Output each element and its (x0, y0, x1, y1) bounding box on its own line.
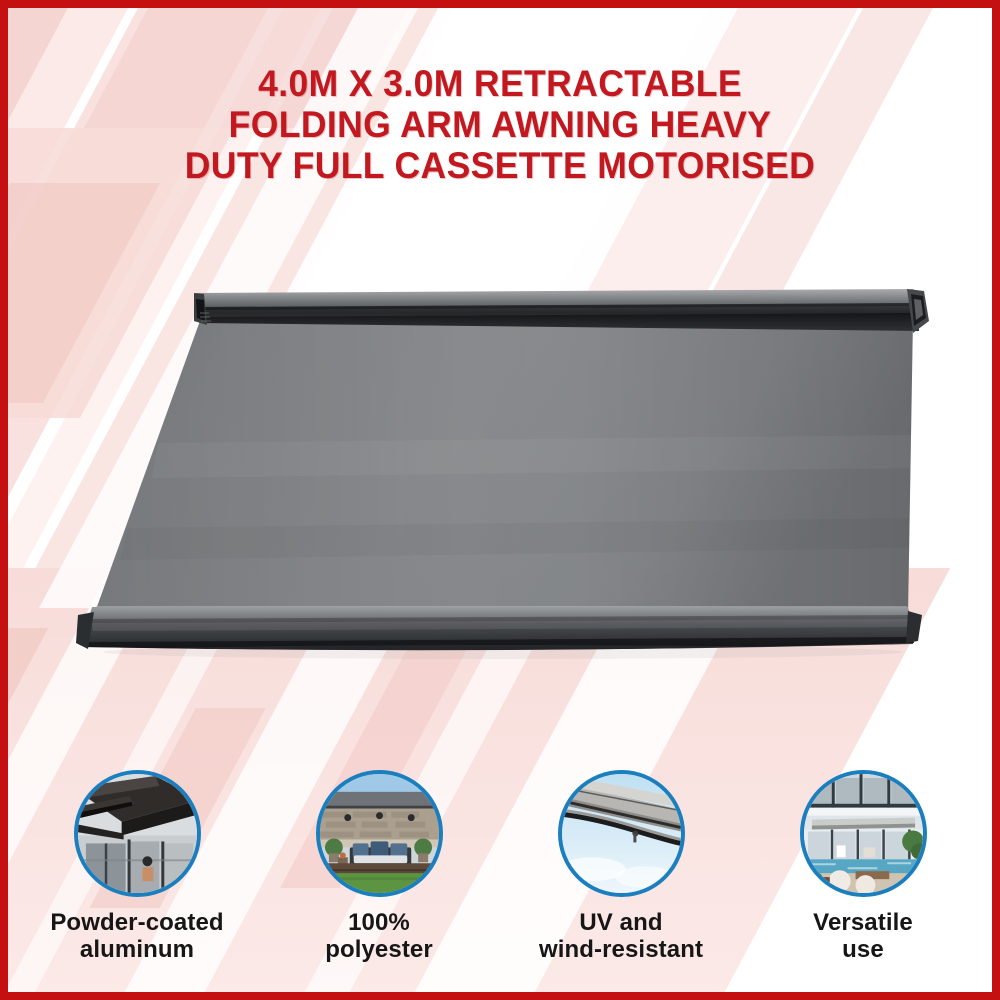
feature-item: Versatile use (746, 770, 981, 963)
feature-label: UV and wind-resistant (539, 909, 703, 963)
feature-item: Powder-coated aluminum (20, 770, 255, 963)
feature-label: Powder-coated aluminum (50, 909, 223, 963)
feature-label-line-2: polyester (325, 936, 433, 963)
feature-label-line-2: use (842, 936, 884, 963)
feature-label-line-1: UV and (579, 909, 662, 936)
modern-house-pool-icon (800, 770, 927, 897)
feature-item: UV and wind-resistant (504, 770, 739, 963)
feature-label-line-1: Versatile (813, 909, 913, 936)
product-image (8, 263, 1000, 683)
title-line-1: 4.0M X 3.0M RETRACTABLE (28, 63, 973, 104)
feature-label: 100% polyester (325, 909, 433, 963)
patio-sofa-icon (316, 770, 443, 897)
feature-list: Powder-coated aluminum (16, 770, 984, 985)
awning-cassette-icon (74, 770, 201, 897)
feature-label-line-2: aluminum (80, 936, 194, 963)
title-line-3: DUTY FULL CASSETTE MOTORISED (28, 145, 973, 186)
title-line-2: FOLDING ARM AWNING HEAVY (28, 104, 973, 145)
product-marketing-image: 4.0M X 3.0M RETRACTABLE FOLDING ARM AWNI… (0, 0, 1000, 1000)
feature-label-line-1: Powder-coated (50, 909, 223, 936)
feature-label-line-2: wind-resistant (539, 936, 703, 963)
page-title: 4.0M X 3.0M RETRACTABLE FOLDING ARM AWNI… (8, 63, 992, 186)
feature-item: 100% polyester (262, 770, 497, 963)
awning-underside-sky-icon (558, 770, 685, 897)
feature-label-line-1: 100% (348, 909, 410, 936)
awning-illustration (8, 263, 1000, 683)
feature-label: Versatile use (813, 909, 913, 963)
